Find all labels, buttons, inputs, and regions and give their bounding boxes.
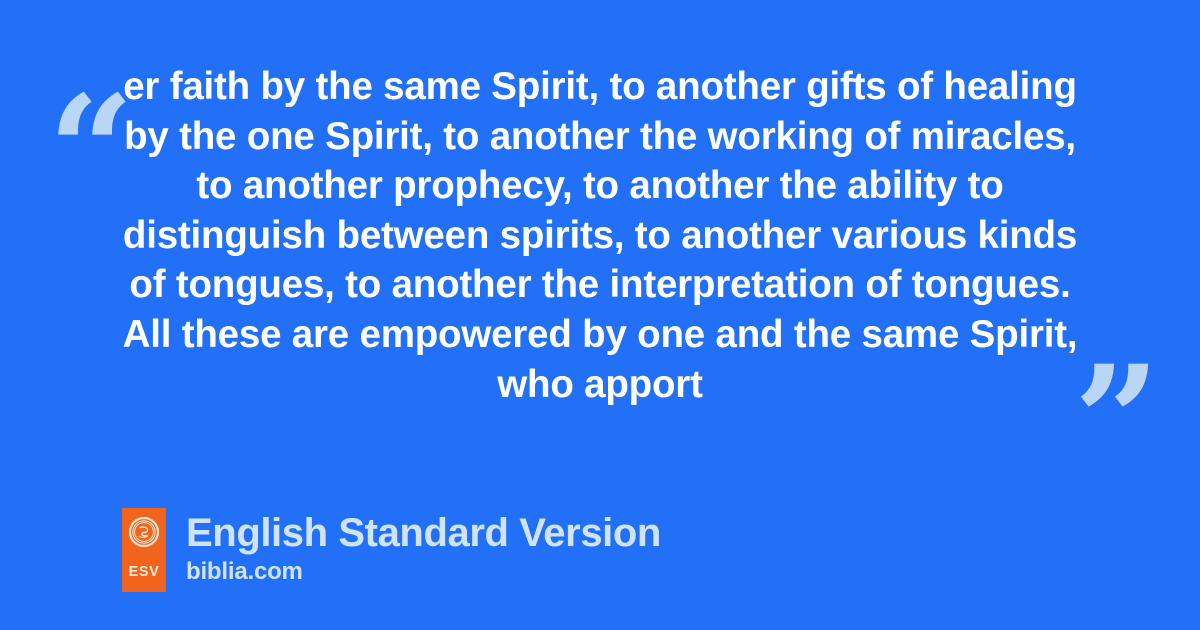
quote-card: “ er faith by the same Spirit, to anothe… bbox=[0, 0, 1200, 630]
site-url[interactable]: biblia.com bbox=[186, 558, 661, 586]
esv-logo: ESV bbox=[122, 508, 166, 592]
brand-text-group: English Standard Version biblia.com bbox=[186, 508, 661, 586]
branding-footer: ESV English Standard Version biblia.com bbox=[122, 508, 661, 592]
quote-text: er faith by the same Spirit, to another … bbox=[110, 62, 1090, 409]
esv-seal-icon bbox=[129, 517, 159, 547]
bible-version-title: English Standard Version bbox=[186, 510, 661, 556]
quote-block: “ er faith by the same Spirit, to anothe… bbox=[0, 46, 1200, 426]
closing-quote-icon: ” bbox=[1074, 346, 1158, 496]
esv-logo-label: ESV bbox=[129, 565, 160, 580]
